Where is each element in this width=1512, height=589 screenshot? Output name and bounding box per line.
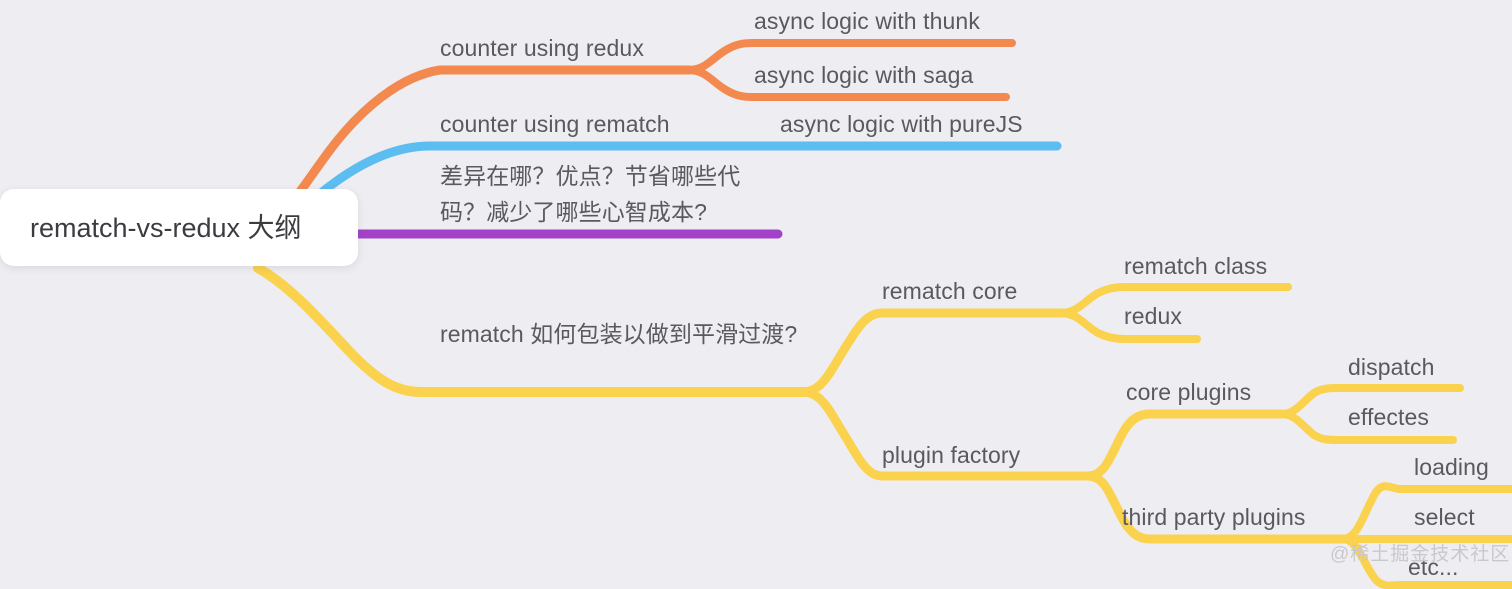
node-core-plugins[interactable]: core plugins <box>1126 377 1251 407</box>
link-transition-rematch-core <box>803 313 1062 392</box>
node-async-logic-with-saga[interactable]: async logic with saga <box>754 60 973 90</box>
node-dispatch[interactable]: dispatch <box>1348 352 1434 382</box>
node-plugin-factory[interactable]: plugin factory <box>882 440 1020 470</box>
mindmap-canvas: rematch-vs-redux 大纲 counter using redux … <box>0 0 1512 589</box>
node-async-logic-with-thunk[interactable]: async logic with thunk <box>754 6 980 36</box>
node-async-logic-with-purejs[interactable]: async logic with pureJS <box>780 109 1023 139</box>
node-select[interactable]: select <box>1414 502 1475 532</box>
link-factory-core-plugins <box>1088 414 1283 476</box>
node-counter-using-redux[interactable]: counter using redux <box>440 33 644 63</box>
node-third-party-plugins[interactable]: third party plugins <box>1122 502 1305 532</box>
node-counter-using-rematch[interactable]: counter using rematch <box>440 109 670 139</box>
node-redux[interactable]: redux <box>1124 301 1182 331</box>
node-smooth-transition-question[interactable]: rematch 如何包装以做到平滑过渡? <box>440 316 800 352</box>
root-node-label: rematch-vs-redux 大纲 <box>30 211 302 245</box>
node-effectes[interactable]: effectes <box>1348 402 1429 432</box>
root-node[interactable]: rematch-vs-redux 大纲 <box>0 189 358 266</box>
node-rematch-class[interactable]: rematch class <box>1124 251 1267 281</box>
node-differences-question[interactable]: 差异在哪？优点？节省哪些代码？减少了哪些心智成本? <box>440 158 785 230</box>
watermark-text: @稀土掘金技术社区 <box>1330 539 1510 566</box>
node-loading[interactable]: loading <box>1414 452 1489 482</box>
node-rematch-core[interactable]: rematch core <box>882 276 1017 306</box>
